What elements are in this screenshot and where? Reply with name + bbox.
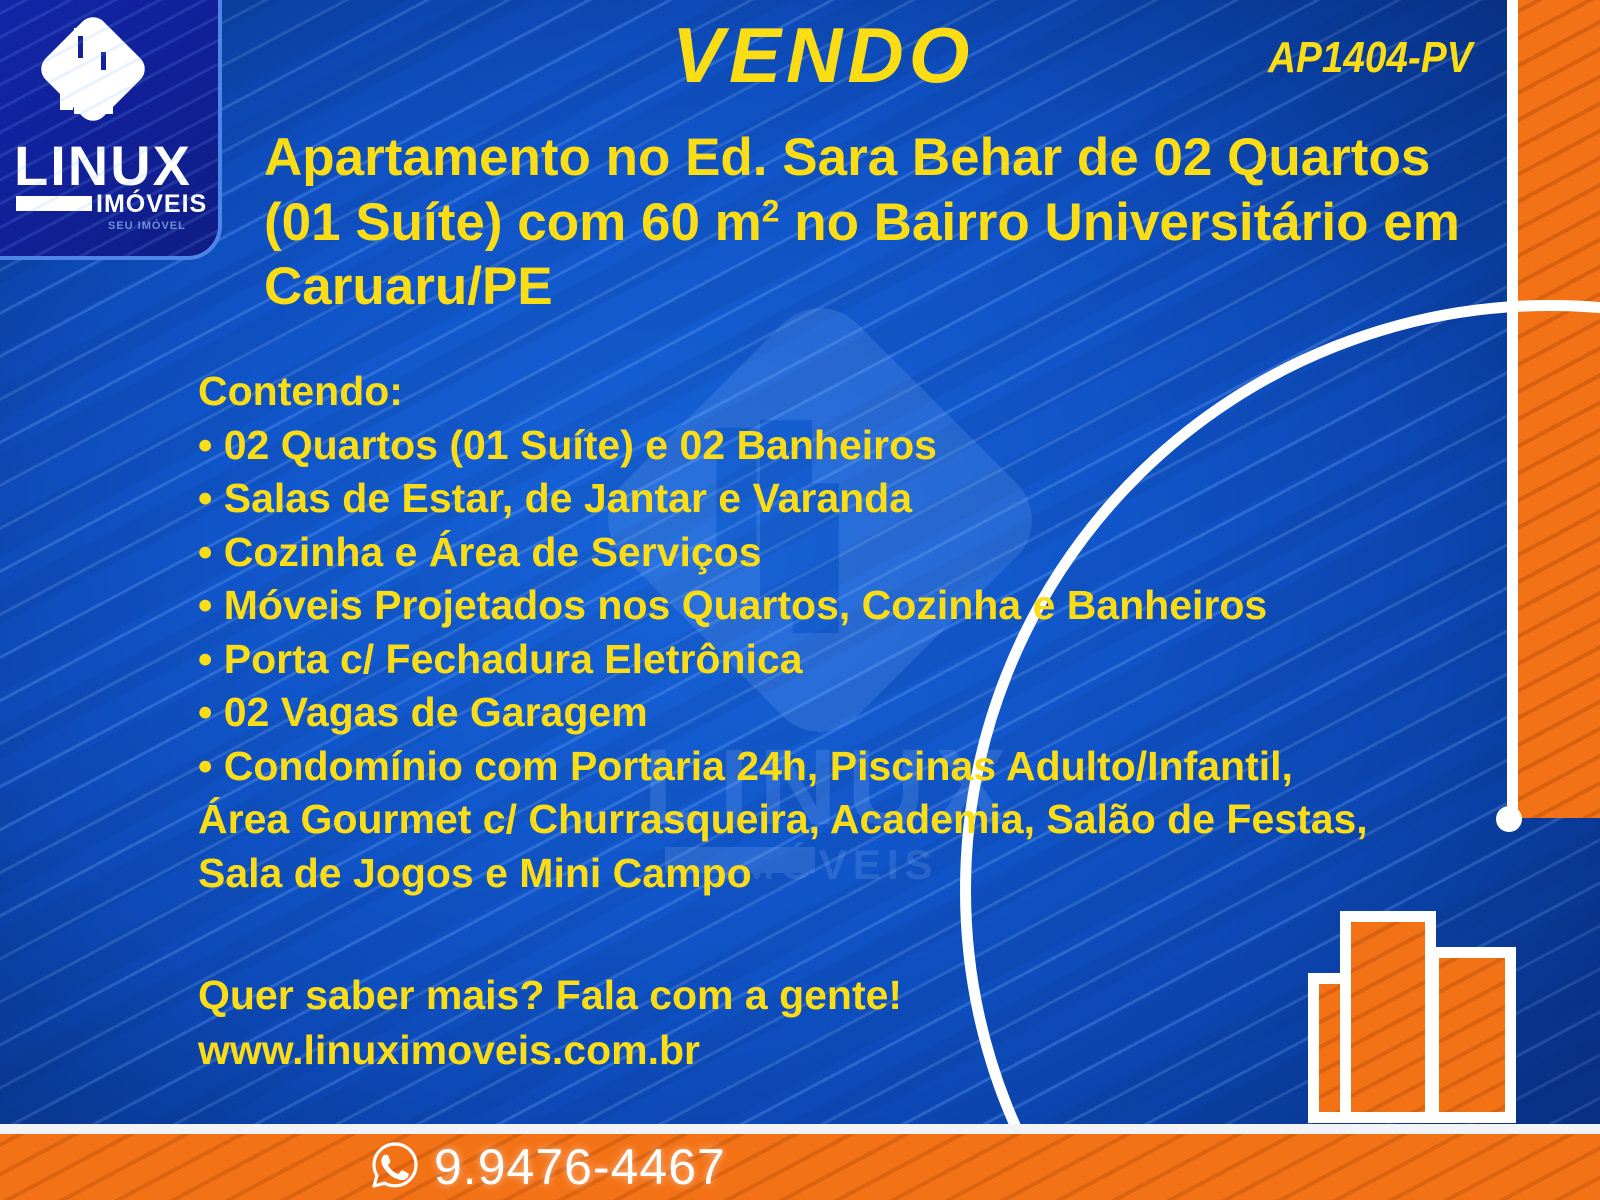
- feature-item: • Porta c/ Fechadura Eletrônica: [198, 633, 1478, 687]
- feature-item: • Móveis Projetados nos Quartos, Cozinha…: [198, 579, 1478, 633]
- feature-item: Sala de Jogos e Mini Campo: [198, 847, 1478, 901]
- brand-logo-sub: IMÓVEIS: [96, 192, 207, 217]
- feature-item: • Salas de Estar, de Jantar e Varanda: [198, 472, 1478, 526]
- action-label: VENDO: [672, 16, 974, 94]
- feature-item: • 02 Quartos (01 Suíte) e 02 Banheiros: [198, 419, 1478, 473]
- arc-endpoint-dot: [1496, 806, 1522, 832]
- brand-logo-inner: LINUX IMÓVEIS SEU IMÓVEL: [0, 0, 222, 260]
- brand-logo-badge[interactable]: LINUX IMÓVEIS SEU IMÓVEL: [0, 0, 222, 260]
- features-intro: Contendo:: [198, 365, 1478, 419]
- feature-item: Área Gourmet c/ Churrasqueira, Academia,…: [198, 793, 1478, 847]
- brand-logo-tagline: SEU IMÓVEL: [108, 220, 186, 232]
- feature-item: • Condomínio com Portaria 24h, Piscinas …: [198, 740, 1478, 794]
- feature-item: • Cozinha e Área de Serviços: [198, 526, 1478, 580]
- features-block: Contendo: • 02 Quartos (01 Suíte) e 02 B…: [198, 365, 1478, 900]
- building-diamond-icon: [30, 6, 156, 132]
- whatsapp-icon: [370, 1140, 420, 1195]
- reference-code: AP1404-PV: [1268, 36, 1472, 80]
- bottom-bar-divider: [0, 1124, 1600, 1134]
- phone-number: 9.9476-4467: [434, 1142, 726, 1192]
- contact-bar: 9.9476-4467: [0, 1134, 1600, 1200]
- feature-item: • 02 Vagas de Garagem: [198, 686, 1478, 740]
- listing-headline: Apartamento no Ed. Sara Behar de 02 Quar…: [264, 126, 1479, 320]
- building-illustration: [1300, 903, 1540, 1123]
- brand-logo-word: LINUX: [14, 138, 194, 194]
- headline-superscript: 2: [762, 192, 780, 228]
- whatsapp-contact[interactable]: 9.9476-4467: [370, 1140, 726, 1195]
- cta-website-link[interactable]: www.linuximoveis.com.br: [198, 1023, 1298, 1078]
- brand-logo-bar: [16, 196, 92, 211]
- cta-block: Quer saber mais? Fala com a gente! www.l…: [198, 968, 1298, 1077]
- building-shape-tall: [1340, 911, 1436, 1123]
- cta-question: Quer saber mais? Fala com a gente!: [198, 968, 1298, 1023]
- real-estate-flyer: LINUX IMÓVEIS VENDO AP1404-PV Apartament…: [0, 0, 1600, 1200]
- building-shape-medium: [1428, 947, 1516, 1123]
